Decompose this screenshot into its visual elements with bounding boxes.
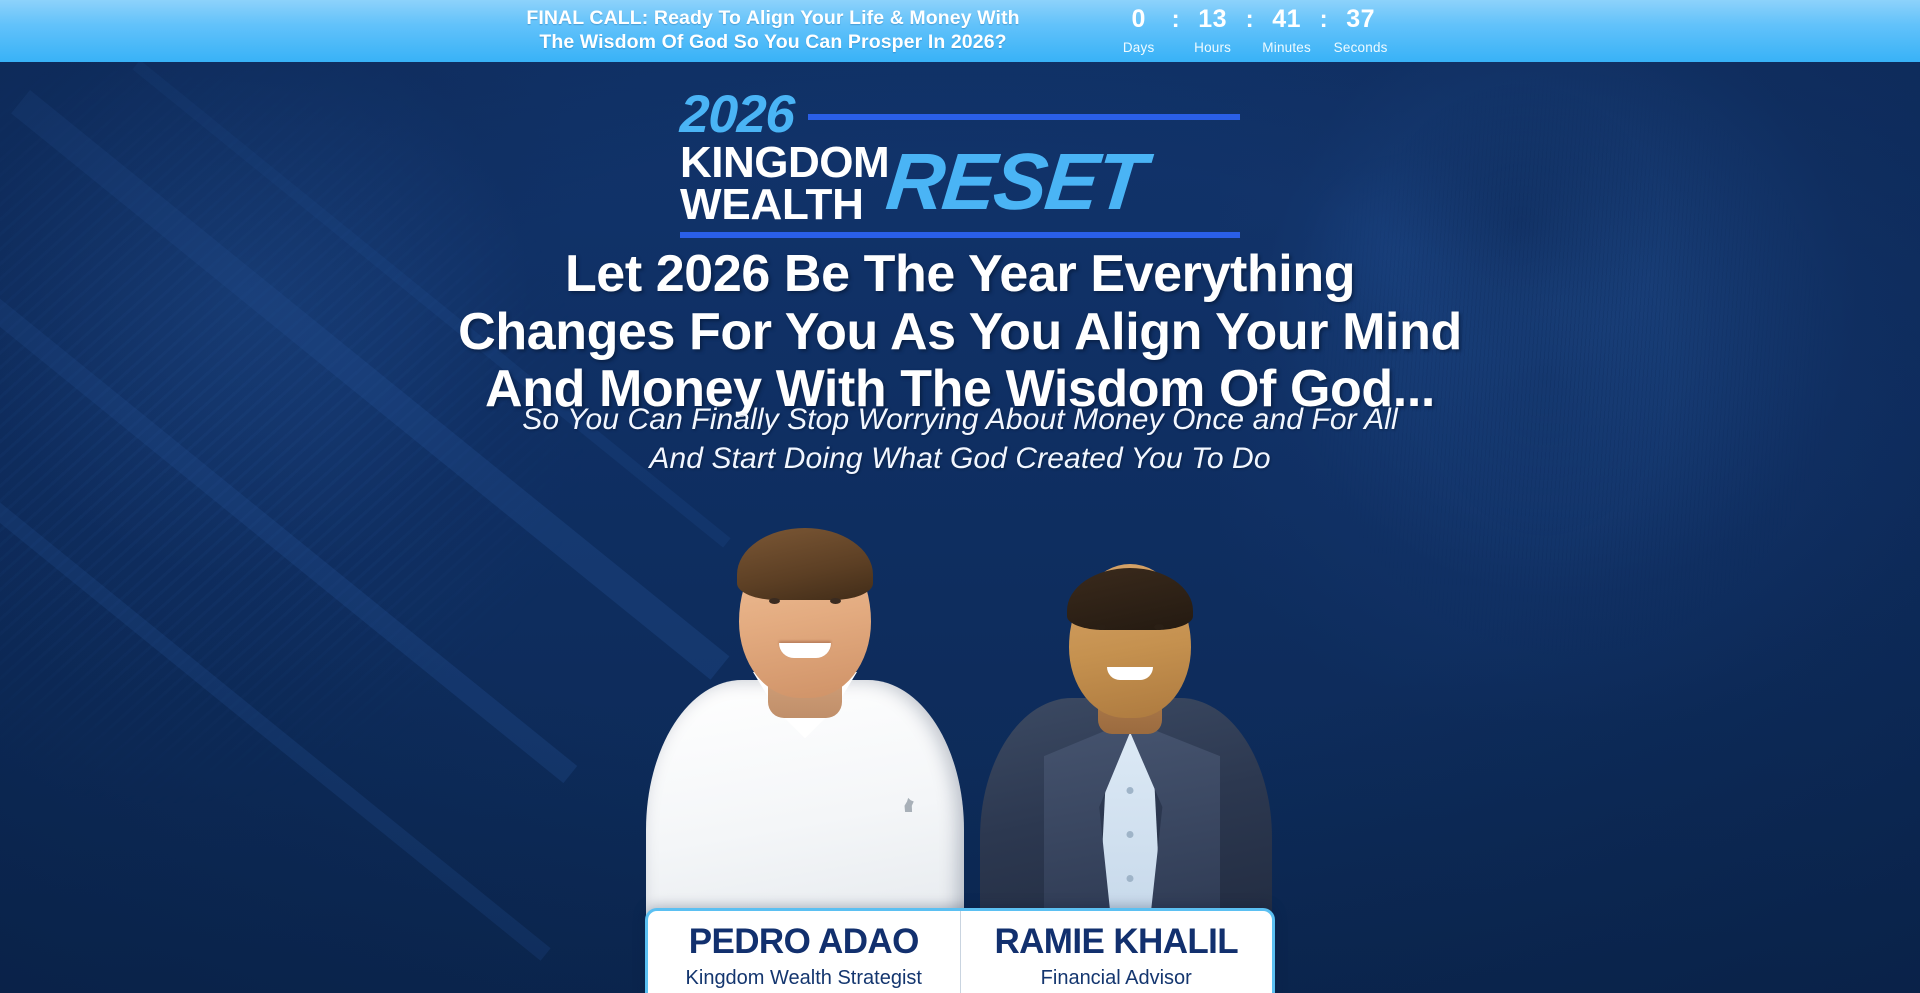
countdown-separator: : — [1320, 7, 1328, 32]
ramie-shirt-button — [1127, 875, 1134, 882]
logo-word-kingdom: KINGDOM — [680, 142, 889, 184]
speaker-photo-pedro-adao — [640, 490, 970, 930]
countdown-unit-days: 0 Days — [1106, 7, 1172, 55]
page-title: Let 2026 Be The Year Everything Changes … — [390, 246, 1530, 419]
logo-kingdom-wealth: KINGDOM WEALTH — [680, 142, 889, 226]
countdown-unit-hours: 13 Hours — [1180, 7, 1246, 55]
banner-headline-line-2: The Wisdom Of God So You Can Prosper In … — [539, 31, 1006, 53]
speaker-role-pedro: Kingdom Wealth Strategist — [686, 968, 922, 988]
countdown-days-value: 0 — [1131, 7, 1145, 32]
banner-headline: FINAL CALL: Ready To Align Your Life & M… — [526, 7, 1019, 55]
nameplate-cell-pedro: PEDRO ADAO Kingdom Wealth Strategist — [648, 911, 960, 993]
countdown-timer: 0 Days : 13 Hours : 41 Minutes : 37 Seco… — [1106, 7, 1394, 55]
logo-top-row: 2026 — [680, 84, 1240, 144]
pedro-eye-left — [769, 598, 780, 604]
speaker-photos — [640, 470, 1280, 930]
landing-page: FINAL CALL: Ready To Align Your Life & M… — [0, 0, 1920, 993]
ramie-hair — [1067, 568, 1193, 630]
ramie-shirt-button — [1127, 787, 1134, 794]
logo-main-row: KINGDOM WEALTH RESET — [680, 142, 1240, 226]
pedro-hair — [737, 528, 873, 600]
speaker-name-ramie: RAMIE KHALIL — [994, 924, 1238, 959]
countdown-seconds-value: 37 — [1346, 7, 1375, 32]
ramie-eye-right — [1154, 624, 1164, 630]
logo-rule-top — [808, 114, 1240, 120]
countdown-minutes-label: Minutes — [1262, 41, 1311, 55]
nameplate-cell-ramie: RAMIE KHALIL Financial Advisor — [960, 911, 1273, 993]
ramie-smile — [1107, 667, 1153, 680]
logo-word-reset: RESET — [884, 148, 1148, 217]
logo-year: 2026 — [679, 88, 795, 141]
countdown-seconds-label: Seconds — [1334, 41, 1388, 55]
subheadline-line-1: So You Can Finally Stop Worrying About M… — [390, 400, 1530, 439]
countdown-unit-minutes: 41 Minutes — [1254, 7, 1320, 55]
brand-logo: 2026 KINGDOM WEALTH RESET — [680, 84, 1240, 238]
speaker-photo-ramie-khalil — [980, 512, 1280, 930]
countdown-separator: : — [1172, 7, 1180, 32]
subheadline-line-2: And Start Doing What God Created You To … — [390, 439, 1530, 478]
ramie-eye-left — [1096, 624, 1106, 630]
page-subtitle: So You Can Finally Stop Worrying About M… — [390, 400, 1530, 478]
countdown-hours-value: 13 — [1198, 7, 1227, 32]
countdown-separator: : — [1246, 7, 1254, 32]
logo-word-wealth: WEALTH — [680, 184, 889, 226]
headline-line-2: Changes For You As You Align Your Mind — [390, 304, 1530, 362]
logo-rule-bottom — [680, 232, 1240, 238]
pedro-eye-right — [830, 598, 841, 604]
countdown-minutes-value: 41 — [1272, 7, 1301, 32]
speaker-nameplate: PEDRO ADAO Kingdom Wealth Strategist RAM… — [645, 908, 1275, 993]
speaker-name-pedro: PEDRO ADAO — [689, 924, 919, 959]
countdown-days-label: Days — [1123, 41, 1155, 55]
speaker-role-ramie: Financial Advisor — [1041, 968, 1192, 988]
countdown-hours-label: Hours — [1194, 41, 1231, 55]
countdown-unit-seconds: 37 Seconds — [1328, 7, 1394, 55]
banner-headline-line-1: FINAL CALL: Ready To Align Your Life & M… — [526, 7, 1019, 29]
headline-line-1: Let 2026 Be The Year Everything — [390, 246, 1530, 304]
ramie-shirt-button — [1127, 831, 1134, 838]
pedro-smile — [779, 643, 831, 658]
countdown-banner: FINAL CALL: Ready To Align Your Life & M… — [0, 0, 1920, 62]
